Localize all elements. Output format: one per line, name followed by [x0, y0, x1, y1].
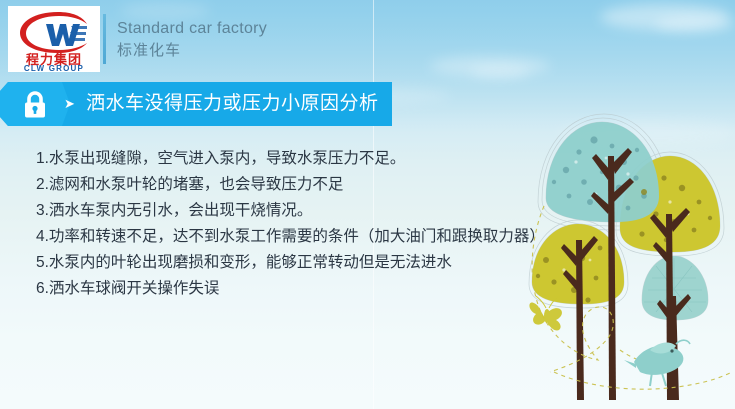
- slide-header: 程力集团 CLW GROUP Standard car factory 标准化车: [0, 0, 735, 78]
- body-line: 4.功率和转速不足，达不到水泵工作需要的条件（加大油门和跟换取力器）: [36, 224, 541, 250]
- section-title-bar: ➤ 洒水车没得压力或压力小原因分析: [0, 82, 392, 126]
- body-content: 1.水泵出现缝隙，空气进入泵内，导致水泵压力不足。 2.滤网和水泵叶轮的堵塞，也…: [36, 146, 541, 302]
- title-arrow-icon: ➤: [64, 94, 75, 114]
- header-title-cn: 标准化车: [117, 40, 267, 62]
- body-line: 1.水泵出现缝隙，空气进入泵内，导致水泵压力不足。: [36, 146, 541, 172]
- body-line: 3.洒水车泵内无引水，会出现干烧情况。: [36, 198, 541, 224]
- header-title-group: Standard car factory 标准化车: [117, 18, 267, 62]
- header-title-en: Standard car factory: [117, 18, 267, 40]
- slide-canvas: 程力集团 CLW GROUP Standard car factory 标准化车…: [0, 0, 735, 409]
- svg-text:CLW GROUP: CLW GROUP: [24, 64, 84, 72]
- header-divider: [103, 14, 106, 64]
- bird: [624, 340, 690, 386]
- body-line: 6.洒水车球阀开关操作失误: [36, 276, 541, 302]
- section-title-text: 洒水车没得压力或压力小原因分析: [86, 90, 379, 118]
- body-line: 2.滤网和水泵叶轮的堵塞，也会导致压力不足: [36, 172, 541, 198]
- clw-group-logo: 程力集团 CLW GROUP: [8, 6, 100, 72]
- lock-icon: [20, 90, 50, 120]
- stylized-trees-illustration: [524, 110, 735, 409]
- body-line: 5.水泵内的叶轮出现磨损和变形，能够正常转动但是无法进水: [36, 250, 541, 276]
